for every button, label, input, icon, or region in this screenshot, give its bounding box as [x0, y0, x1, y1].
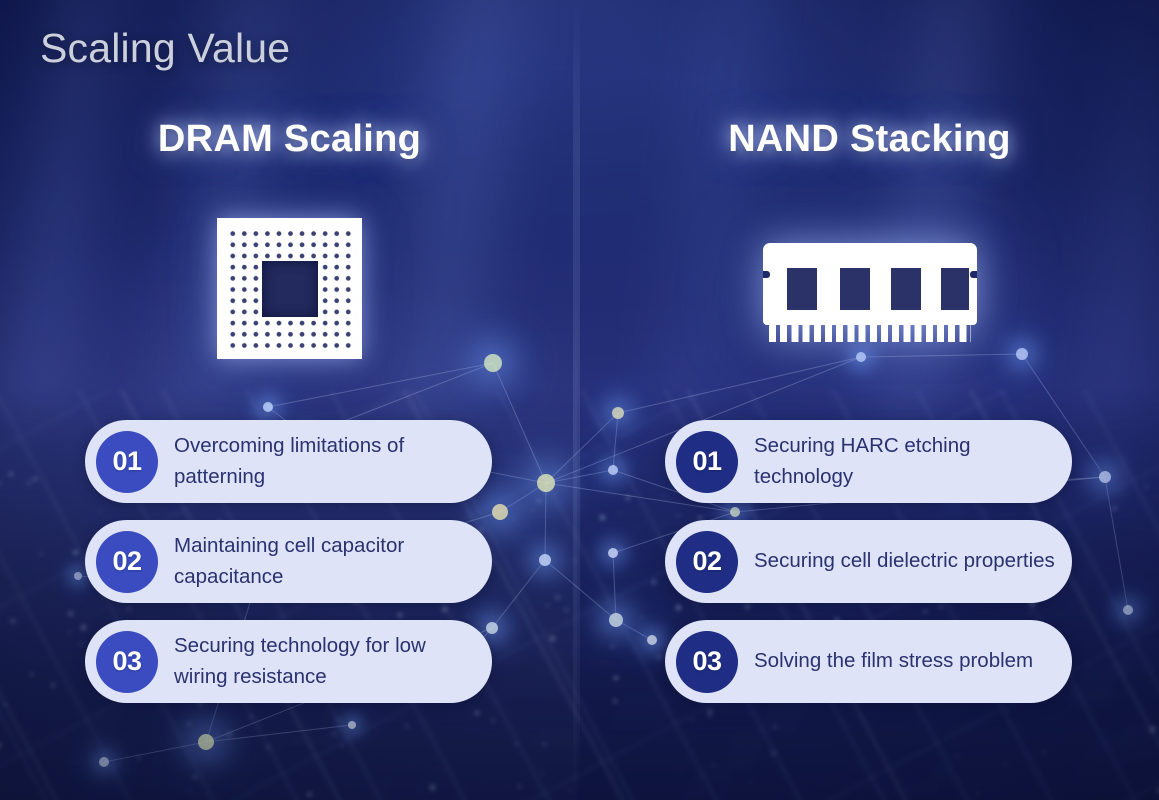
chip-center-cavity: [262, 261, 318, 317]
column-nand: NAND Stacking 01 Securing HARC: [580, 0, 1159, 800]
item-number-badge: 01: [96, 431, 158, 493]
item-number-badge: 02: [676, 531, 738, 593]
list-dram: 01 Overcoming limitations of patterning …: [85, 420, 492, 720]
item-text: Securing HARC etching technology: [754, 431, 1056, 491]
ram-connector-pins: [769, 321, 971, 342]
item-number-badge: 01: [676, 431, 738, 493]
ram-notch-right: [970, 271, 977, 278]
ram-chip: [787, 268, 817, 310]
list-item[interactable]: 03 Solving the film stress problem: [665, 620, 1072, 703]
list-item[interactable]: 02 Securing cell dielectric properties: [665, 520, 1072, 603]
item-text: Securing technology for low wiring resis…: [174, 631, 476, 691]
item-number-badge: 03: [676, 631, 738, 693]
chip-body: [217, 218, 362, 359]
ram-chip: [941, 268, 969, 310]
item-text: Overcoming limitations of patterning: [174, 431, 476, 491]
ram-chip: [891, 268, 921, 310]
slide-content: Scaling Value DRAM Scaling 01 Overcoming…: [0, 0, 1159, 800]
list-item[interactable]: 01 Overcoming limitations of patterning: [85, 420, 492, 503]
list-nand: 01 Securing HARC etching technology 02 S…: [665, 420, 1072, 720]
ram-notch-left: [763, 271, 770, 278]
dram-chip-icon: [0, 218, 579, 359]
item-number-badge: 02: [96, 531, 158, 593]
list-item[interactable]: 02 Maintaining cell capacitor capacitanc…: [85, 520, 492, 603]
item-text: Securing cell dielectric properties: [754, 546, 1055, 576]
item-text: Solving the film stress problem: [754, 646, 1033, 676]
column-heading-nand: NAND Stacking: [580, 118, 1159, 161]
column-heading-dram: DRAM Scaling: [0, 118, 579, 161]
list-item[interactable]: 03 Securing technology for low wiring re…: [85, 620, 492, 703]
ram-module: [763, 243, 977, 342]
item-number-badge: 03: [96, 631, 158, 693]
memory-module-icon: [580, 243, 1159, 342]
column-dram: DRAM Scaling 01 Overcoming limitations o…: [0, 0, 579, 800]
ram-chip: [840, 268, 870, 310]
slide-root: Scaling Value DRAM Scaling 01 Overcoming…: [0, 0, 1159, 800]
item-text: Maintaining cell capacitor capacitance: [174, 531, 476, 591]
list-item[interactable]: 01 Securing HARC etching technology: [665, 420, 1072, 503]
